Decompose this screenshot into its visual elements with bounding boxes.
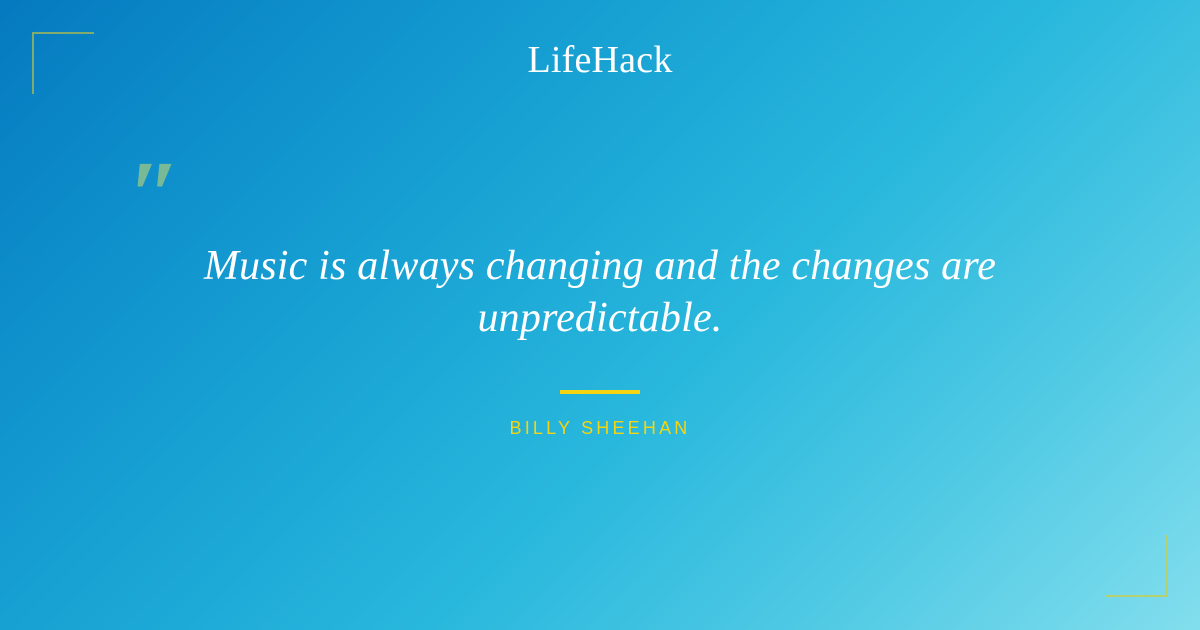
lifehack-logo: LifeHack	[0, 37, 1200, 83]
quote-card: LifeHack ″ Music is always changing and …	[0, 0, 1200, 630]
quote-block: Music is always changing and the changes…	[200, 240, 1000, 440]
corner-bracket-bottom-right-icon	[1106, 535, 1168, 597]
quote-text: Music is always changing and the changes…	[200, 240, 1000, 344]
quote-author: BILLY SHEEHAN	[200, 416, 1000, 440]
quote-divider	[560, 390, 640, 394]
quotation-mark-icon: ″	[128, 147, 181, 243]
